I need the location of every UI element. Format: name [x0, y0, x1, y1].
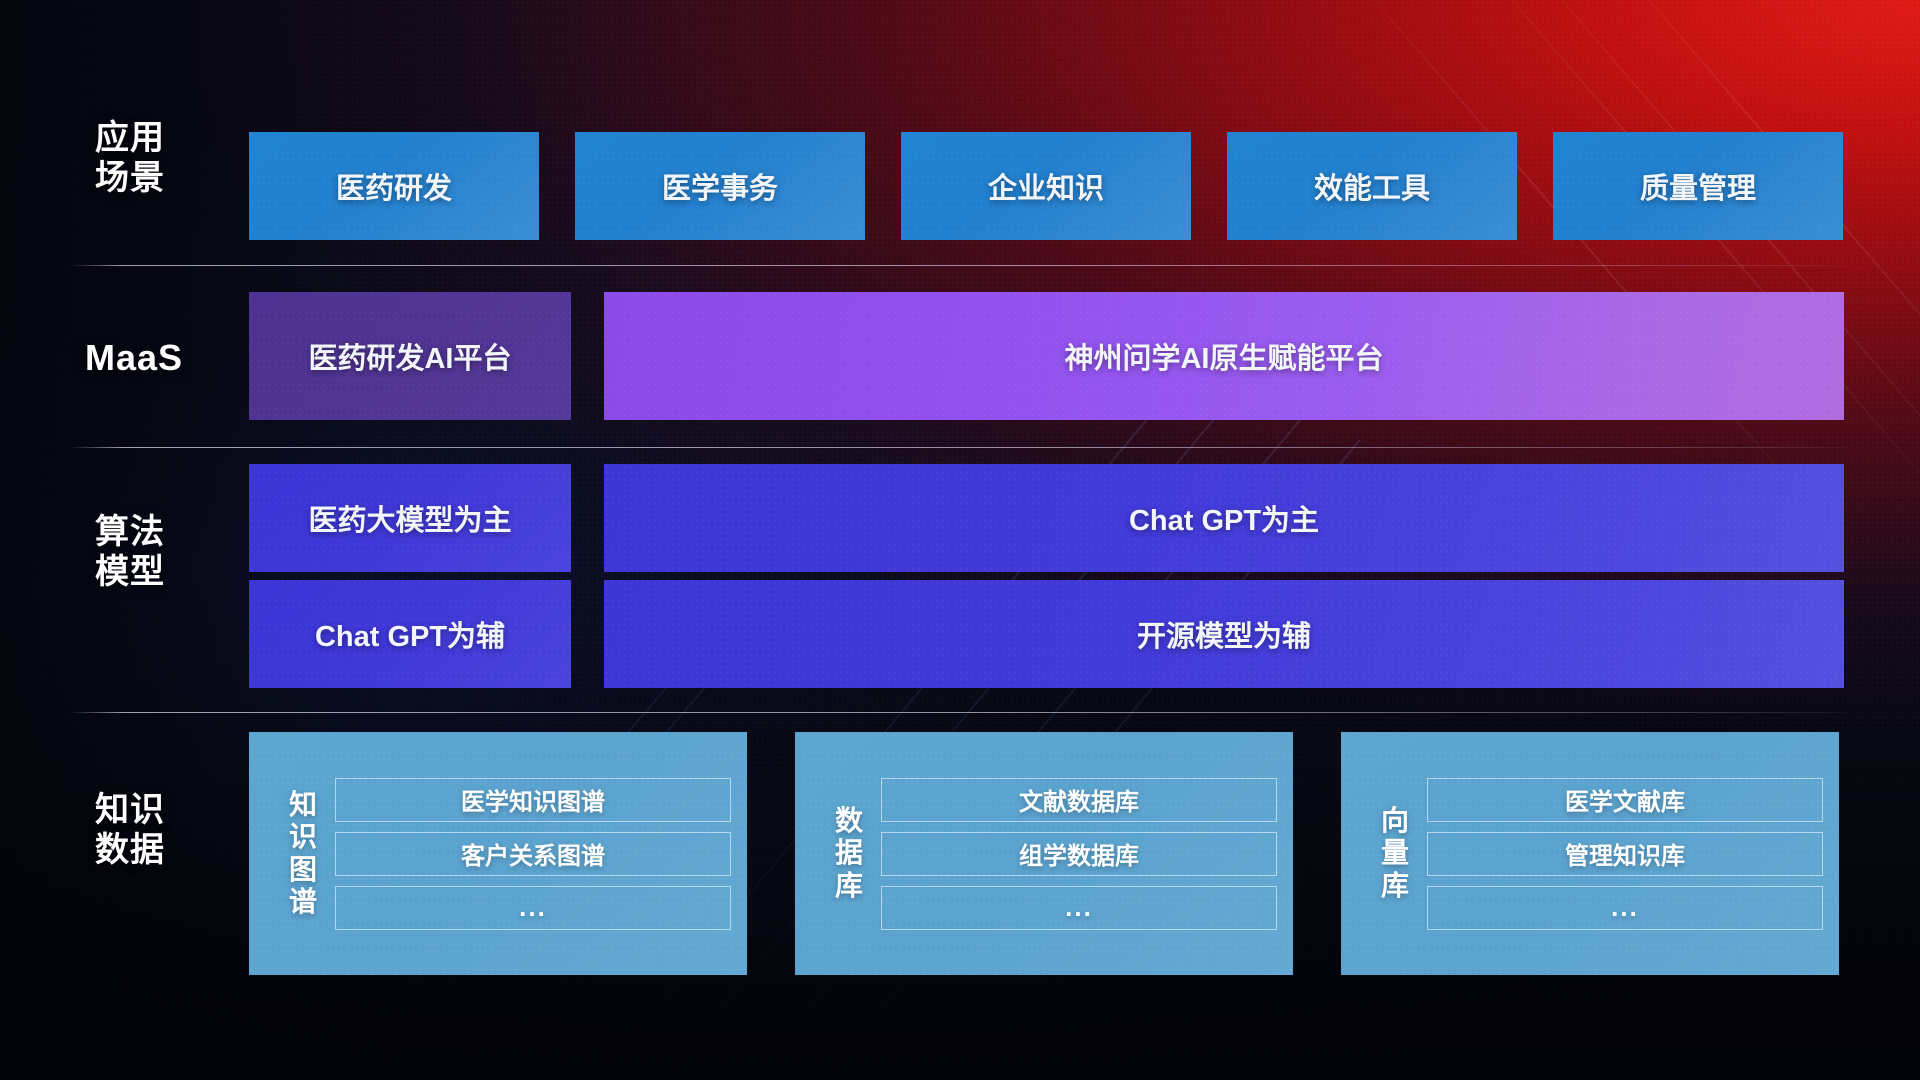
row-label-line1: 算法	[70, 512, 190, 552]
app-box-4[interactable]: 质量管理	[1553, 132, 1843, 240]
algo-box-label-2: Chat GPT为辅	[315, 613, 505, 655]
knowledge-group-items-1: 文献数据库 组学数据库 ...	[881, 778, 1277, 930]
maas-box-enablement-platform[interactable]: 神州问学AI原生赋能平台	[604, 292, 1844, 420]
app-box-label-3: 效能工具	[1314, 165, 1430, 207]
row-label-algorithm-model: 算法 模型	[70, 512, 190, 592]
knowledge-item-1-1[interactable]: 组学数据库	[881, 832, 1277, 876]
knowledge-group-label-1: 数据库	[827, 805, 871, 902]
app-box-3[interactable]: 效能工具	[1227, 132, 1517, 240]
maas-box-label-1: 神州问学AI原生赋能平台	[1064, 335, 1383, 377]
app-box-label-1: 医学事务	[662, 165, 778, 207]
row-label-line1: 知识	[70, 790, 190, 830]
divider-2	[70, 447, 1846, 448]
knowledge-group-label-0: 知识图谱	[281, 789, 325, 919]
algo-box-1[interactable]: Chat GPT为主	[604, 464, 1844, 572]
knowledge-item-2-2[interactable]: ...	[1427, 886, 1823, 930]
knowledge-group-label-2: 向量库	[1373, 805, 1417, 902]
algo-box-0[interactable]: 医药大模型为主	[249, 464, 571, 572]
app-box-label-0: 医药研发	[336, 165, 452, 207]
maas-box-label-0: 医药研发AI平台	[308, 335, 511, 377]
row-label-line2: 数据	[70, 830, 190, 870]
knowledge-item-2-1[interactable]: 管理知识库	[1427, 832, 1823, 876]
algo-box-2[interactable]: Chat GPT为辅	[249, 580, 571, 688]
knowledge-item-1-0[interactable]: 文献数据库	[881, 778, 1277, 822]
algo-box-3[interactable]: 开源模型为辅	[604, 580, 1844, 688]
knowledge-item-0-2[interactable]: ...	[335, 886, 731, 930]
app-box-0[interactable]: 医药研发	[249, 132, 539, 240]
architecture-diagram: 应用 场景 医药研发 医学事务 企业知识 效能工具 质量管理 MaaS 医药研发…	[0, 0, 1920, 1080]
app-box-2[interactable]: 企业知识	[901, 132, 1191, 240]
knowledge-item-0-0[interactable]: 医学知识图谱	[335, 778, 731, 822]
divider-1	[70, 265, 1846, 266]
row-label-line2: 场景	[70, 158, 190, 198]
row-label-line1: 应用	[70, 118, 190, 158]
knowledge-group-0[interactable]: 知识图谱 医学知识图谱 客户关系图谱 ...	[249, 732, 747, 975]
row-label-maas-text: MaaS	[70, 337, 198, 379]
row-label-application-scenarios: 应用 场景	[70, 118, 190, 198]
row-label-line2: 模型	[70, 552, 190, 592]
maas-box-platform[interactable]: 医药研发AI平台	[249, 292, 571, 420]
knowledge-group-items-0: 医学知识图谱 客户关系图谱 ...	[335, 778, 731, 930]
knowledge-item-0-1[interactable]: 客户关系图谱	[335, 832, 731, 876]
row-label-knowledge-data: 知识 数据	[70, 790, 190, 870]
knowledge-group-items-2: 医学文献库 管理知识库 ...	[1427, 778, 1823, 930]
app-box-1[interactable]: 医学事务	[575, 132, 865, 240]
knowledge-item-2-0[interactable]: 医学文献库	[1427, 778, 1823, 822]
algo-box-label-0: 医药大模型为主	[308, 497, 511, 539]
algo-box-label-3: 开源模型为辅	[1137, 613, 1311, 655]
row-label-maas: MaaS	[70, 337, 198, 379]
knowledge-group-1[interactable]: 数据库 文献数据库 组学数据库 ...	[795, 732, 1293, 975]
algo-box-label-1: Chat GPT为主	[1129, 497, 1319, 539]
knowledge-group-2[interactable]: 向量库 医学文献库 管理知识库 ...	[1341, 732, 1839, 975]
knowledge-item-1-2[interactable]: ...	[881, 886, 1277, 930]
app-box-label-4: 质量管理	[1640, 165, 1756, 207]
app-box-label-2: 企业知识	[988, 165, 1104, 207]
divider-3	[70, 712, 1846, 713]
